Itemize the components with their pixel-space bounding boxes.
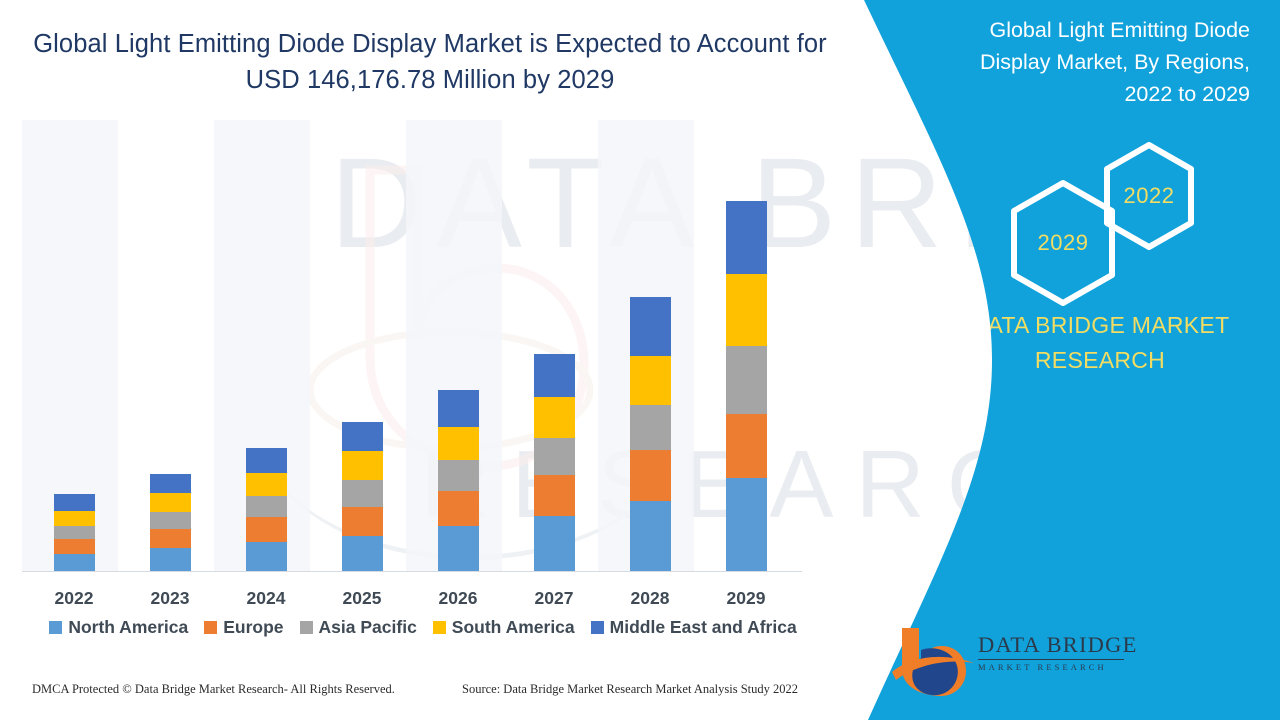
bar-segment-north-america [726,478,767,571]
panel-title: Global Light Emitting Diode Display Mark… [940,14,1250,110]
bar-segment-south-america [150,493,191,512]
bar-column[interactable] [246,448,287,571]
data-bridge-wordmark: DATA BRIDGE MARKET RESEARCH [978,632,1128,672]
logo-title: DATA BRIDGE [978,632,1128,658]
bar-segment-asia-pacific [246,496,287,517]
bar-segment-south-america [54,511,95,526]
legend-swatch-icon [433,621,446,634]
bar-segment-middle-east-and-africa [630,297,671,356]
x-tick-label: 2023 [130,588,210,609]
data-bridge-logo: DATA BRIDGE MARKET RESEARCH [890,622,1120,700]
bar-segment-asia-pacific [54,526,95,539]
logo-divider [978,659,1124,660]
bar-segment-europe [630,450,671,501]
bar-column[interactable] [54,494,95,571]
x-tick-label: 2029 [706,588,786,609]
bar-segment-europe [342,507,383,536]
data-bridge-b-logo-icon [890,624,976,698]
bar-segment-middle-east-and-africa [534,354,575,397]
legend-label: North America [68,617,188,638]
hexagon-group: 2022 2029 [980,140,1200,290]
bar-segment-north-america [54,554,95,571]
bar-segment-europe [54,539,95,554]
bar-segment-middle-east-and-africa [246,448,287,473]
bar-column[interactable] [150,474,191,571]
bar-segment-south-america [246,473,287,496]
legend-item-asia-pacific[interactable]: Asia Pacific [300,617,417,638]
hexagon-end-year-label: 2029 [1038,230,1089,256]
legend-swatch-icon [49,621,62,634]
bar-segment-europe [150,529,191,548]
bar-column[interactable] [630,297,671,571]
bar-segment-south-america [726,274,767,346]
legend-label: Asia Pacific [319,617,417,638]
bar-segment-north-america [630,501,671,571]
bar-segment-middle-east-and-africa [54,494,95,511]
bar-segment-europe [246,517,287,542]
bar-segment-south-america [534,397,575,438]
chart-legend: North America Europe Asia Pacific South … [0,617,846,638]
legend-item-south-america[interactable]: South America [433,617,575,638]
legend-label: South America [452,617,575,638]
legend-swatch-icon [591,621,604,634]
bar-column[interactable] [534,354,575,571]
bar-segment-north-america [150,548,191,571]
infographic-page: DATA BRIDGE RESEARCH Global Light Emitti… [0,0,1280,720]
legend-item-middle-east-and-africa[interactable]: Middle East and Africa [591,617,797,638]
bar-segment-asia-pacific [150,512,191,529]
bar-segment-south-america [438,427,479,460]
bar-segment-asia-pacific [342,480,383,507]
x-tick-label: 2022 [34,588,114,609]
hexagon-end-year: 2029 [1004,178,1122,308]
legend-swatch-icon [204,621,217,634]
bar-segment-north-america [342,536,383,571]
bar-column[interactable] [342,422,383,571]
x-tick-label: 2028 [610,588,690,609]
x-tick-label: 2027 [514,588,594,609]
bar-column[interactable] [438,390,479,571]
hexagon-start-year-label: 2022 [1124,183,1175,209]
right-blue-panel: Global Light Emitting Diode Display Mark… [820,0,1280,720]
bar-segment-middle-east-and-africa [150,474,191,493]
bar-segment-asia-pacific [438,460,479,491]
logo-subtitle: MARKET RESEARCH [978,662,1128,672]
footer: DMCA Protected © Data Bridge Market Rese… [0,682,850,706]
bar-segment-europe [534,475,575,516]
bar-segment-middle-east-and-africa [438,390,479,427]
x-axis-line [22,571,802,572]
bar-segment-europe [726,414,767,478]
bar-column[interactable] [726,201,767,571]
bar-segment-middle-east-and-africa [726,201,767,274]
bar-segment-north-america [246,542,287,571]
stacked-bar-chart: 2022 2023 2024 2025 2026 2027 2028 2029 … [0,0,860,720]
footer-dmca-notice: DMCA Protected © Data Bridge Market Rese… [32,682,395,697]
bar-segment-south-america [630,356,671,405]
left-content-pane: Global Light Emitting Diode Display Mark… [0,0,860,720]
x-axis-tick-labels: 2022 2023 2024 2025 2026 2027 2028 2029 [0,588,860,616]
footer-source-note: Source: Data Bridge Market Research Mark… [462,682,798,697]
bar-segment-north-america [534,516,575,571]
legend-label: Europe [223,617,283,638]
legend-swatch-icon [300,621,313,634]
bar-segment-middle-east-and-africa [342,422,383,451]
legend-item-north-america[interactable]: North America [49,617,188,638]
brand-name: DATA BRIDGE MARKET RESEARCH [950,308,1250,378]
bar-segment-north-america [438,526,479,571]
legend-label: Middle East and Africa [610,617,797,638]
x-tick-label: 2025 [322,588,402,609]
bar-segment-europe [438,491,479,526]
bar-segment-asia-pacific [630,405,671,450]
x-tick-label: 2026 [418,588,498,609]
legend-item-europe[interactable]: Europe [204,617,283,638]
bar-segment-south-america [342,451,383,480]
bar-segment-asia-pacific [534,438,575,475]
bar-segment-asia-pacific [726,346,767,414]
x-tick-label: 2024 [226,588,306,609]
